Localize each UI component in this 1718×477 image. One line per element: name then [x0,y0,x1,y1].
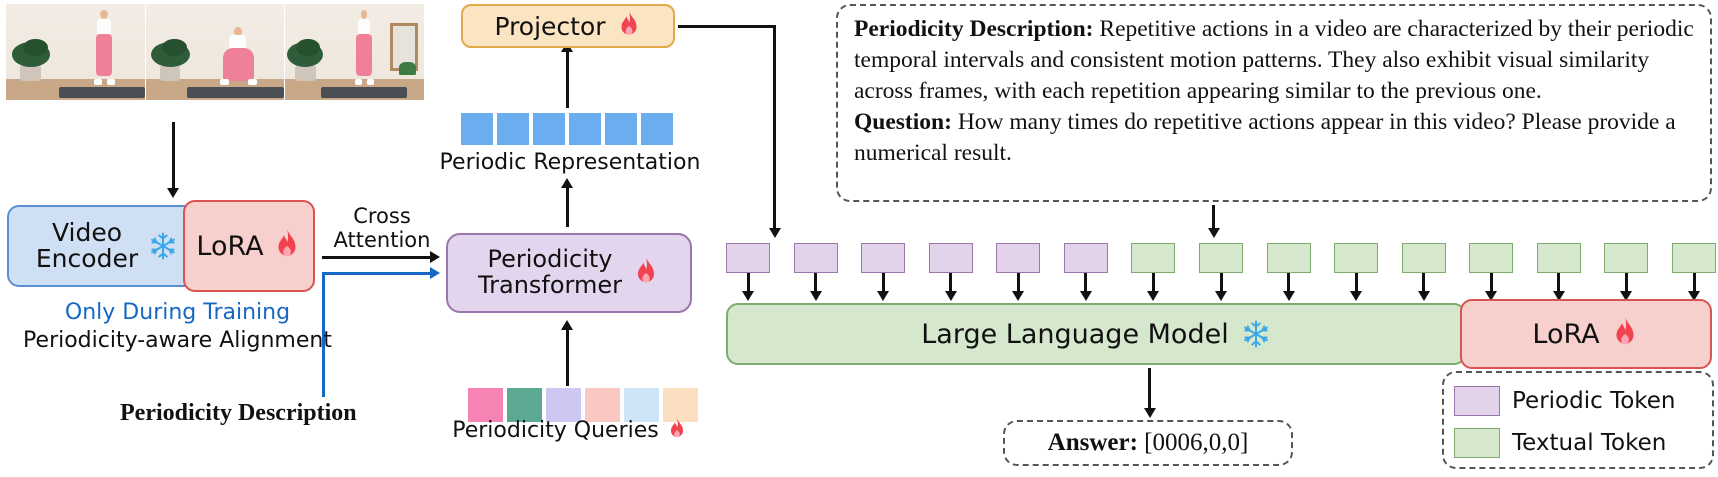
token-arrow-shaft [1017,273,1020,293]
periodic-representation-block [605,113,637,145]
answer-heading: Answer: [1048,429,1138,456]
periodicity-transformer-line2: Transformer [478,273,622,299]
periodicity-queries-text: Periodicity Queries [452,418,659,443]
token-arrow-shaft [1422,273,1425,293]
periodic-token [929,243,973,273]
token-arrow-shaft [1220,273,1223,293]
fire-icon [666,418,688,442]
textual-token [1334,243,1378,273]
periodicity-description-label: Periodicity Description [120,400,357,427]
periodicity-query-block [507,388,542,422]
cross-attention-line1: Cross [327,205,437,229]
token-arrow-shaft [1557,273,1560,293]
periodic-token [1064,243,1108,273]
lora-left-box[interactable]: LoRA [183,200,315,292]
video-frame-1 [6,4,146,100]
token-arrow-head [1147,291,1159,301]
video-encoder-box[interactable]: Video Encoder [7,205,207,287]
token-arrow-head [1283,291,1295,301]
only-during-training-label: Only During Training [5,300,350,325]
token-arrow-shaft [814,273,817,293]
token-arrow-shaft [1287,273,1290,293]
legend-swatch [1454,428,1500,458]
textual-token [1469,243,1513,273]
token-arrow-shaft [747,273,750,293]
periodicity-query-block [624,388,659,422]
periodic-representation-block [461,113,493,145]
video-frame-2 [146,4,286,100]
periodic-token [996,243,1040,273]
video-encoder-label-line2: Encoder [36,246,138,272]
periodicity-aware-alignment-label: Periodicity-aware Alignment [5,328,350,353]
fire-icon [632,257,660,289]
llm-label: Large Language Model [921,319,1228,350]
periodicity-transformer-box[interactable]: Periodicity Transformer [446,233,692,313]
periodicity-query-block [468,388,503,422]
cross-attention-label: Cross Attention [327,205,437,252]
token-row [726,243,1716,273]
lora-right-label: LoRA [1532,319,1599,350]
prompt-panel: Periodicity Description: Repetitive acti… [836,4,1712,202]
token-arrow-shaft [949,273,952,293]
token-arrow-head [1080,291,1092,301]
token-arrow-head [1215,291,1227,301]
periodic-representation-block [533,113,565,145]
legend-panel: Periodic TokenTextual Token [1442,371,1714,469]
periodic-representation-block [497,113,529,145]
token-arrow-head [1350,291,1362,301]
periodic-representation-label: Periodic Representation [430,150,710,175]
token-arrow-shaft [1084,273,1087,293]
periodicity-transformer-line1: Periodicity [478,247,622,273]
periodic-token [794,243,838,273]
legend-item: Periodic Token [1454,380,1702,422]
token-arrow-head [877,291,889,301]
token-arrow-head [945,291,957,301]
token-arrow-shaft [1490,273,1493,293]
answer-box: Answer: [0006,0,0] [1003,420,1293,466]
periodic-representation-block [641,113,673,145]
token-arrow-shaft [1355,273,1358,293]
lora-left-label: LoRA [196,231,263,262]
projector-label: Projector [494,12,605,41]
large-language-model-box[interactable]: Large Language Model [726,303,1466,365]
legend-swatch [1454,386,1500,416]
periodicity-queries-row [468,388,698,422]
textual-token [1131,243,1175,273]
legend-label: Periodic Token [1512,388,1676,414]
token-arrow-head [1012,291,1024,301]
periodic-token [861,243,905,273]
periodicity-query-block [546,388,581,422]
video-frame-3 [285,4,424,100]
periodicity-queries-label: Periodicity Queries [430,418,710,443]
token-arrow-head [1418,291,1430,301]
fire-icon [272,229,302,263]
snowflake-icon [1241,319,1271,349]
fire-icon [1610,317,1640,351]
token-arrow-shaft [1693,273,1696,293]
lora-right-box[interactable]: LoRA [1460,299,1712,369]
periodic-token [726,243,770,273]
textual-token [1199,243,1243,273]
textual-token [1672,243,1716,273]
video-frames-strip [6,4,424,100]
projector-box[interactable]: Projector [461,4,675,48]
textual-token [1402,243,1446,273]
periodicity-query-block [585,388,620,422]
periodic-representation-block [569,113,601,145]
token-arrow-shaft [882,273,885,293]
token-arrow-shaft [1625,273,1628,293]
diagram-canvas: Video Encoder LoRA [0,0,1718,477]
token-arrow-head [742,291,754,301]
snowflake-icon [148,231,178,261]
answer-value: [0006,0,0] [1138,429,1248,456]
legend-label: Textual Token [1512,430,1666,456]
legend-item: Textual Token [1454,422,1702,464]
video-encoder-label-line1: Video [36,220,138,246]
textual-token [1604,243,1648,273]
cross-attention-line2: Attention [327,229,437,253]
periodicity-description-heading: Periodicity Description: [854,16,1094,42]
periodicity-query-block [663,388,698,422]
fire-icon [616,11,642,41]
token-arrow-head [810,291,822,301]
periodic-representation-row [461,113,673,145]
token-arrow-shaft [1152,273,1155,293]
textual-token [1267,243,1311,273]
question-text: How many times do repetitive actions app… [854,109,1676,166]
question-heading: Question: [854,109,952,135]
textual-token [1537,243,1581,273]
